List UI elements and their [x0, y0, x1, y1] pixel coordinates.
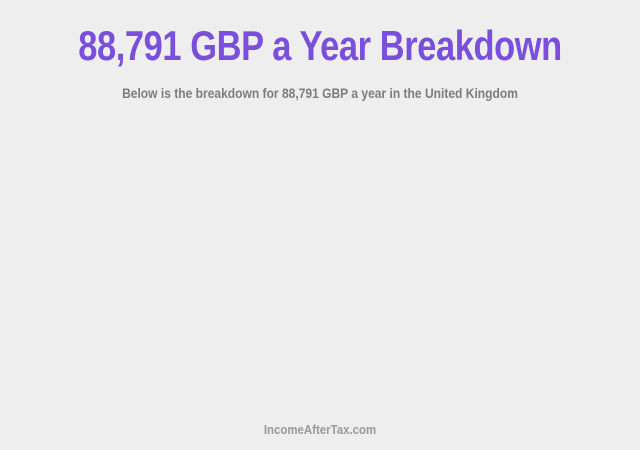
breakdown-page: 88,791 GBP a Year Breakdown Below is the…	[0, 0, 640, 450]
breakdown-chart-area	[0, 118, 640, 410]
site-watermark: IncomeAfterTax.com	[38, 422, 601, 438]
page-title: 88,791 GBP a Year Breakdown	[58, 22, 583, 70]
page-subtitle: Below is the breakdown for 88,791 GBP a …	[45, 84, 595, 102]
